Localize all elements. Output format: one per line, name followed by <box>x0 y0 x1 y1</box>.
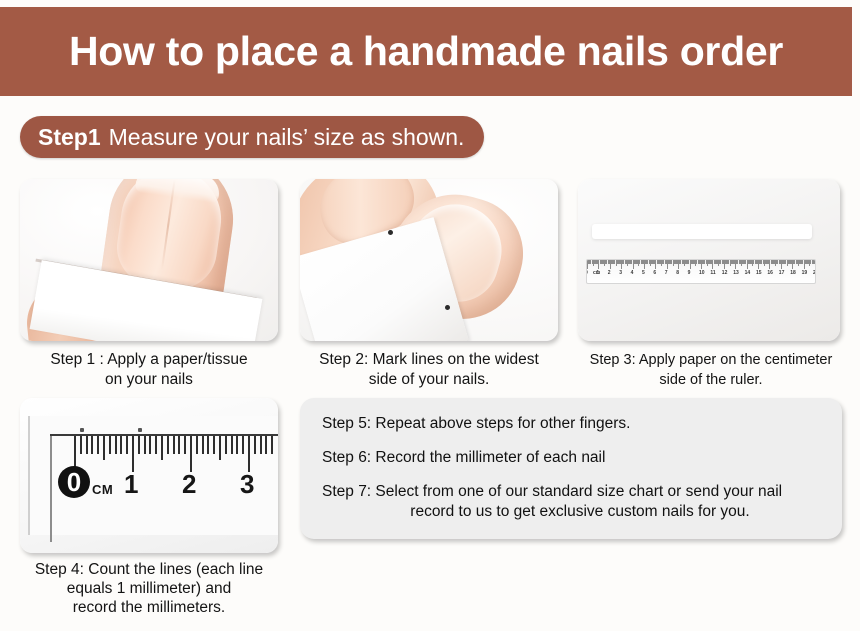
ruler-tick <box>248 436 250 472</box>
ruler-tick <box>91 436 93 454</box>
step6-line: Step 6: Record the millimeter of each na… <box>322 448 820 468</box>
ruler-tick <box>149 436 151 454</box>
ruler-tick <box>242 436 244 454</box>
ruler-tick <box>167 436 169 454</box>
pen-mark-bottom <box>445 305 450 310</box>
step1-banner: Step1 Measure your nails’ size as shown. <box>20 116 484 158</box>
ruler-number: 2 <box>182 470 196 498</box>
ruler-tick <box>144 436 146 454</box>
ruler-tick <box>184 436 186 454</box>
ruler-tick <box>173 436 175 454</box>
paper-mark-dot <box>138 428 142 432</box>
caption-step2: Step 2: Mark lines on the widest side of… <box>296 350 562 390</box>
step5-line: Step 5: Repeat above steps for other fin… <box>322 414 820 434</box>
step1-label: Step1 <box>38 124 101 151</box>
photo-step3: 01234567891011121314151617181920cm <box>578 179 840 341</box>
ruler-small: 01234567891011121314151617181920cm <box>586 259 816 284</box>
caption-step4-line3: record the millimeters. <box>4 598 294 617</box>
ruler-tick <box>207 436 209 454</box>
ruler-number: 0 <box>586 270 588 277</box>
ruler-tick <box>103 436 105 460</box>
caption-step4: Step 4: Count the lines (each line equal… <box>4 560 294 617</box>
caption-step1-line1: Step 1 : Apply a paper/tissue <box>8 350 290 370</box>
ruler-tick <box>132 436 134 472</box>
photo-card-step1 <box>20 179 278 341</box>
photo-card-step3: 01234567891011121314151617181920cm <box>578 179 840 341</box>
ruler-tick <box>236 436 238 454</box>
caption-step3: Step 3: Apply paper on the centimeter si… <box>570 350 852 390</box>
ruler-tick <box>97 436 99 454</box>
photo-step2 <box>300 179 558 341</box>
photo-step1 <box>20 179 278 341</box>
ruler-tick <box>115 436 117 454</box>
step7-line1: Step 7: Select from one of our standard … <box>322 483 782 500</box>
ruler-number: 14 <box>745 270 751 277</box>
ruler-tick <box>260 436 262 454</box>
caption-step1: Step 1 : Apply a paper/tissue on your na… <box>8 350 290 390</box>
paper-strip <box>592 224 812 239</box>
ruler-tick <box>109 436 111 454</box>
ruler-number: 20 <box>813 270 816 277</box>
ruler-tick <box>80 436 82 454</box>
ruler-tick <box>213 436 215 454</box>
caption-step1-line2: on your nails <box>8 370 290 390</box>
ruler-macro-labels: 123 <box>20 470 278 502</box>
ruler-tick <box>161 436 163 460</box>
ruler-tick <box>86 436 88 454</box>
step7-line2: record to us to get exclusive custom nai… <box>322 502 820 522</box>
paper-mark-dot <box>80 428 84 432</box>
step7-line: Step 7: Select from one of our standard … <box>322 482 820 522</box>
ruler-tick <box>254 436 256 454</box>
ruler-number: 3 <box>240 470 254 498</box>
pen-mark-top <box>388 230 393 235</box>
ruler-tick <box>138 436 140 454</box>
ruler-number: 9 <box>688 270 691 277</box>
ruler-tick <box>202 436 204 454</box>
header-banner: How to place a handmade nails order <box>0 7 852 96</box>
photo-card-step4: 0 CM 123 <box>20 398 278 553</box>
ruler-number: 12 <box>722 270 728 277</box>
ruler-tick <box>815 260 816 269</box>
ruler-tick <box>271 436 273 454</box>
ruler-number: 16 <box>767 270 773 277</box>
ruler-number: 3 <box>619 270 622 277</box>
ruler-tick <box>219 436 221 460</box>
photo-card-step2 <box>300 179 558 341</box>
nail-tip-highlight <box>135 179 222 204</box>
steps-5-7-panel: Step 5: Repeat above steps for other fin… <box>300 398 842 539</box>
ruler-number: 15 <box>756 270 762 277</box>
ruler-number: 11 <box>710 270 715 277</box>
ruler-unit-label: cm <box>593 270 600 277</box>
ruler-number: 13 <box>733 270 739 277</box>
ruler-number: 5 <box>642 270 645 277</box>
ruler-tick <box>178 436 180 454</box>
ruler-number: 7 <box>665 270 668 277</box>
ruler-tick <box>265 436 267 454</box>
infographic-page: How to place a handmade nails order Step… <box>0 0 860 631</box>
ruler-macro-ticks <box>52 436 276 464</box>
caption-step2-line2: side of your nails. <box>296 370 562 390</box>
caption-step3-line1: Step 3: Apply paper on the centimeter <box>570 350 852 370</box>
ruler-number: 18 <box>790 270 796 277</box>
ruler-number: 8 <box>676 270 679 277</box>
photo-step4: 0 CM 123 <box>20 398 278 553</box>
ruler-number: 10 <box>699 270 705 277</box>
caption-step4-line1: Step 4: Count the lines (each line <box>4 560 294 579</box>
caption-step2-line1: Step 2: Mark lines on the widest <box>296 350 562 370</box>
ruler-tick <box>225 436 227 454</box>
ruler-tick <box>196 436 198 454</box>
ruler-tick <box>231 436 233 454</box>
ruler-number: 2 <box>608 270 611 277</box>
caption-step4-line2: equals 1 millimeter) and <box>4 579 294 598</box>
ruler-number: 1 <box>124 470 138 498</box>
ruler-number: 4 <box>631 270 634 277</box>
ruler-tick <box>190 436 192 472</box>
ruler-number: 6 <box>653 270 656 277</box>
ruler-number: 19 <box>802 270 808 277</box>
caption-step3-line2: side of the ruler. <box>570 370 852 390</box>
step1-description: Measure your nails’ size as shown. <box>109 124 465 151</box>
ruler-number: 17 <box>779 270 785 277</box>
ruler-tick-row <box>587 260 815 269</box>
ruler-tick <box>126 436 128 454</box>
ruler-tick <box>155 436 157 454</box>
ruler-tick <box>120 436 122 454</box>
page-title: How to place a handmade nails order <box>69 28 783 75</box>
